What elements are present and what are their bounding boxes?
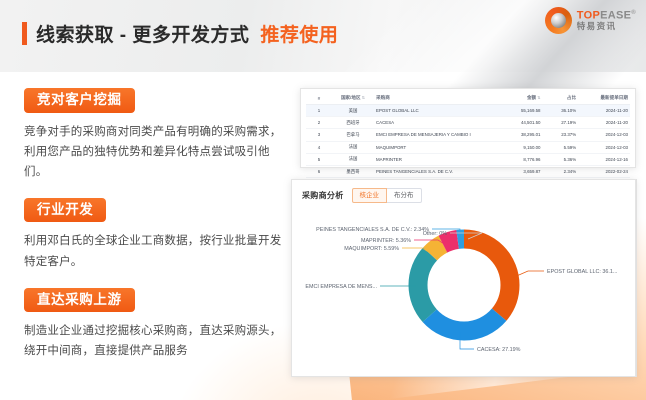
cell-date: 2024-12-16 <box>578 153 630 165</box>
pie-label-emci: EMCI EMPRESA DE MENS... <box>305 284 377 290</box>
table-row[interactable]: 6 墨西哥 PEINES TANGENCIALES S.A. DE C.V. 3… <box>306 165 630 177</box>
page-header: 线索获取 - 更多开发方式 推荐使用 TOPEASE® 特易资讯 <box>0 0 646 72</box>
cell-country: 法国 <box>332 141 374 153</box>
cell-buyer[interactable]: MAPRINTER <box>374 153 500 165</box>
pie-label-maprinter: MAPRINTER: 5.36% <box>361 238 411 244</box>
table-row[interactable]: 3 巴拿马 EMCI EMPRESA DE MENSAJERIA Y CAMBI… <box>306 129 630 141</box>
logo-subtitle: 特易资讯 <box>577 22 636 31</box>
cell-index: 2 <box>306 117 332 129</box>
tab-core-enterprise[interactable]: 核企业 <box>352 188 388 203</box>
pie-label-maquimport: MAQUIMPORT: 5.59% <box>344 246 399 252</box>
pie-label-epost: EPOST GLOBAL LLC: 36.1... <box>547 269 617 275</box>
cell-buyer[interactable]: CACESA <box>374 117 500 129</box>
col-header-country-label: 国家/地区 <box>341 95 361 100</box>
cell-index: 6 <box>306 165 332 177</box>
cell-date: 2022-02-24 <box>578 165 630 177</box>
col-header-share[interactable]: 占比 <box>543 92 579 105</box>
cell-share: 2.34% <box>543 165 579 177</box>
buyers-table-head: # 国家/地区⇅ 采购商 金额⇅ 占比 最新提单日期 <box>306 92 630 105</box>
cell-index: 5 <box>306 153 332 165</box>
topease-logo: TOPEASE® 特易资讯 <box>545 7 636 34</box>
pie-label-peines: PEINES TANGENCIALES S.A. DE C.V.: 2.34% <box>316 227 429 233</box>
feature-item: 竞对客户挖掘 竞争对手的采购商对同类产品有明确的采购需求，利用您产品的独特优势和… <box>24 88 286 182</box>
page-title-accent: 推荐使用 <box>260 20 338 47</box>
cell-share: 5.36% <box>543 153 579 165</box>
logo-ring-icon <box>545 7 572 34</box>
donut-ring-segments <box>418 239 510 331</box>
col-header-country[interactable]: 国家/地区⇅ <box>332 92 374 105</box>
sort-caret-icon[interactable]: ⇅ <box>537 95 540 100</box>
buyers-table-panel: # 国家/地区⇅ 采购商 金额⇅ 占比 最新提单日期 1 美国 EPOST GL… <box>300 88 636 168</box>
feature-desc-direct-upstream: 制造业企业通过挖掘核心采购商，直达采购源头，绕开中间商，直接提供产品服务 <box>24 321 286 361</box>
cell-buyer[interactable]: EPOST GLOBAL LLC <box>374 105 500 117</box>
table-row[interactable]: 2 西班牙 CACESA 44,501.50 27.19% 2024-11-20 <box>306 117 630 129</box>
logo-ring-core <box>551 13 566 28</box>
buyer-analysis-panel: 采购商分析 核企业 布分布 <box>291 179 636 377</box>
logo-brand-top: TOP <box>577 10 600 22</box>
col-header-buyer[interactable]: 采购商 <box>374 92 500 105</box>
chart-tab-group: 核企业 布分布 <box>352 188 422 203</box>
chart-header: 采购商分析 核企业 布分布 <box>292 180 635 203</box>
col-header-latest-bl-date[interactable]: 最新提单日期 <box>578 92 630 105</box>
cell-amount: 9,150.00 <box>500 141 542 153</box>
logo-registered-mark: ® <box>631 10 636 16</box>
cell-buyer[interactable]: PEINES TANGENCIALES S.A. DE C.V. <box>374 165 500 177</box>
logo-brand-ease: EASE <box>600 10 631 22</box>
cell-buyer[interactable]: EMCI EMPRESA DE MENSAJERIA Y CAMBIO I <box>374 129 500 141</box>
sort-caret-icon[interactable]: ⇅ <box>362 95 365 100</box>
cell-amount: 55,169.58 <box>500 105 542 117</box>
cell-date: 2024-11-20 <box>578 105 630 117</box>
feature-list: 竞对客户挖掘 竞争对手的采购商对同类产品有明确的采购需求，利用您产品的独特优势和… <box>24 88 286 361</box>
cell-country: 法国 <box>332 153 374 165</box>
cell-date: 2024-12-03 <box>578 129 630 141</box>
logo-wordmark: TOPEASE® 特易资讯 <box>577 10 636 31</box>
feature-desc-competitor-customers: 竞争对手的采购商对同类产品有明确的采购需求，利用您产品的独特优势和差异化特点尝试… <box>24 122 286 182</box>
feature-desc-industry-development: 利用邓白氏的全球企业工商数据，按行业批量开发特定客户。 <box>24 231 286 271</box>
page-title-main: 线索获取 - 更多开发方式 <box>36 20 249 47</box>
col-header-amount-label: 金额 <box>527 95 536 100</box>
cell-share: 27.19% <box>543 117 579 129</box>
cell-date: 2024-12-03 <box>578 141 630 153</box>
cell-index: 3 <box>306 129 332 141</box>
cell-share: 5.59% <box>543 141 579 153</box>
cell-amount: 44,501.50 <box>500 117 542 129</box>
feature-item: 直达采购上游 制造业企业通过挖掘核心采购商，直达采购源头，绕开中间商，直接提供产… <box>24 288 286 362</box>
cell-amount: 3,659.87 <box>500 165 542 177</box>
cell-country: 巴拿马 <box>332 129 374 141</box>
tab-distribution[interactable]: 布分布 <box>387 188 422 203</box>
donut-chart-area: PEINES TANGENCIALES S.A. DE C.V.: 2.34% … <box>292 203 637 371</box>
pie-label-other: Other: 0% <box>423 231 447 237</box>
cell-amount: 38,295.01 <box>500 129 542 141</box>
col-header-index[interactable]: # <box>306 92 332 105</box>
cell-share: 36.10% <box>543 105 579 117</box>
page-title: 线索获取 - 更多开发方式 推荐使用 <box>22 20 338 47</box>
cell-share: 23.37% <box>543 129 579 141</box>
cell-date: 2024-11-20 <box>578 117 630 129</box>
title-accent-bar <box>22 22 27 45</box>
table-row[interactable]: 4 法国 MAQUIMPORT 9,150.00 5.59% 2024-12-0… <box>306 141 630 153</box>
cell-index: 4 <box>306 141 332 153</box>
buyers-table-body: 1 美国 EPOST GLOBAL LLC 55,169.58 36.10% 2… <box>306 105 630 178</box>
panel-right-edge <box>636 179 637 377</box>
table-row[interactable]: 5 法国 MAPRINTER 8,776.96 5.36% 2024-12-16 <box>306 153 630 165</box>
cell-country: 墨西哥 <box>332 165 374 177</box>
feature-item: 行业开发 利用邓白氏的全球企业工商数据，按行业批量开发特定客户。 <box>24 198 286 272</box>
feature-badge-direct-upstream: 直达采购上游 <box>24 288 135 313</box>
cell-country: 美国 <box>332 105 374 117</box>
cell-buyer[interactable]: MAQUIMPORT <box>374 141 500 153</box>
cell-index: 1 <box>306 105 332 117</box>
chart-panel-title: 采购商分析 <box>302 190 344 201</box>
cell-amount: 8,776.96 <box>500 153 542 165</box>
table-row[interactable]: 1 美国 EPOST GLOBAL LLC 55,169.58 36.10% 2… <box>306 105 630 117</box>
table-header-row: # 国家/地区⇅ 采购商 金额⇅ 占比 最新提单日期 <box>306 92 630 105</box>
feature-badge-competitor-customers: 竞对客户挖掘 <box>24 88 135 113</box>
donut-chart[interactable]: PEINES TANGENCIALES S.A. DE C.V.: 2.34% … <box>292 203 637 371</box>
feature-badge-industry-development: 行业开发 <box>24 198 106 223</box>
buyers-table: # 国家/地区⇅ 采购商 金额⇅ 占比 最新提单日期 1 美国 EPOST GL… <box>306 92 630 178</box>
col-header-amount[interactable]: 金额⇅ <box>500 92 542 105</box>
pie-label-cacesa: CACESA: 27.19% <box>477 347 521 353</box>
cell-country: 西班牙 <box>332 117 374 129</box>
